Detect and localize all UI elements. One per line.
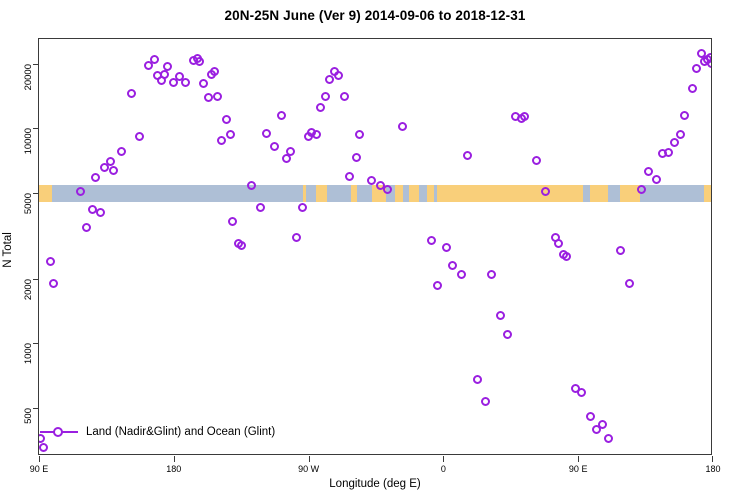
y-axis-label-text: N Total xyxy=(2,232,14,268)
data-point xyxy=(135,132,144,141)
x-axis-tick xyxy=(309,456,310,462)
data-point xyxy=(577,388,586,397)
data-point xyxy=(91,173,100,182)
data-point xyxy=(46,257,55,266)
data-point xyxy=(340,92,349,101)
data-point xyxy=(644,167,653,176)
data-point xyxy=(160,70,169,79)
data-point xyxy=(49,279,58,288)
x-axis-tick-label: 180 xyxy=(166,464,181,474)
data-point xyxy=(106,157,115,166)
data-point xyxy=(520,112,529,121)
data-point xyxy=(487,270,496,279)
data-point xyxy=(217,136,226,145)
land-band-segment xyxy=(409,185,419,202)
y-axis-label: N Total xyxy=(2,232,14,268)
data-point xyxy=(586,412,595,421)
land-band-segment xyxy=(427,185,434,202)
data-point xyxy=(277,111,286,120)
data-point xyxy=(228,217,237,226)
x-axis-tick-label: 90 E xyxy=(30,464,49,474)
plot-area xyxy=(39,39,711,454)
data-point xyxy=(82,223,91,232)
data-point xyxy=(39,443,48,452)
data-point xyxy=(448,261,457,270)
x-axis-tick-label: 180 xyxy=(705,464,720,474)
data-point xyxy=(270,142,279,151)
data-point xyxy=(199,79,208,88)
data-point xyxy=(222,115,231,124)
data-point xyxy=(652,175,661,184)
data-point xyxy=(442,243,451,252)
data-point xyxy=(676,130,685,139)
data-point xyxy=(195,57,204,66)
chart-title: 20N-25N June (Ver 9) 2014-09-06 to 2018-… xyxy=(0,8,750,23)
data-point xyxy=(262,129,271,138)
data-point xyxy=(345,172,354,181)
data-point xyxy=(664,148,673,157)
data-point xyxy=(463,151,472,160)
plot-frame: 5001000200050001000020000 90 E18090 W090… xyxy=(38,38,712,455)
data-point xyxy=(457,270,466,279)
data-point xyxy=(481,397,490,406)
data-point xyxy=(150,55,159,64)
data-point xyxy=(96,208,105,217)
data-point xyxy=(562,252,571,261)
land-band-segment xyxy=(395,185,402,202)
data-point xyxy=(707,59,711,68)
legend-label: Land (Nadir&Glint) and Ocean (Glint) xyxy=(86,426,275,438)
legend: Land (Nadir&Glint) and Ocean (Glint) xyxy=(40,426,275,438)
land-band-segment xyxy=(316,185,326,202)
data-point xyxy=(433,281,442,290)
x-axis-tick-label: 90 W xyxy=(298,464,319,474)
data-point xyxy=(109,166,118,175)
land-band-segment xyxy=(590,185,608,202)
chart-root: 20N-25N June (Ver 9) 2014-09-06 to 2018-… xyxy=(0,0,750,500)
data-point xyxy=(204,93,213,102)
data-point xyxy=(298,203,307,212)
data-point xyxy=(256,203,265,212)
data-point xyxy=(427,236,436,245)
data-point xyxy=(541,187,550,196)
data-point xyxy=(127,89,136,98)
data-point xyxy=(554,239,563,248)
data-point xyxy=(210,67,219,76)
legend-marker-icon xyxy=(40,426,78,438)
data-point xyxy=(316,103,325,112)
data-point xyxy=(181,78,190,87)
data-point xyxy=(532,156,541,165)
data-point xyxy=(286,147,295,156)
data-point xyxy=(163,62,172,71)
data-point xyxy=(503,330,512,339)
data-point xyxy=(625,279,634,288)
x-axis-tick xyxy=(39,456,40,462)
land-band-segment xyxy=(303,185,306,202)
x-axis-tick xyxy=(712,456,713,462)
data-point xyxy=(237,241,246,250)
x-axis-tick xyxy=(443,456,444,462)
land-band-segment xyxy=(351,185,357,202)
data-point xyxy=(398,122,407,131)
land-band-segment xyxy=(437,185,582,202)
data-point xyxy=(637,185,646,194)
data-point xyxy=(292,233,301,242)
data-point xyxy=(226,130,235,139)
data-point xyxy=(670,138,679,147)
data-point xyxy=(312,130,321,139)
data-point xyxy=(334,71,343,80)
data-point xyxy=(604,434,613,443)
data-point xyxy=(355,130,364,139)
data-point xyxy=(692,64,701,73)
data-point xyxy=(325,75,334,84)
x-axis-tick xyxy=(174,456,175,462)
x-axis-tick xyxy=(578,456,579,462)
x-axis-tick-label: 0 xyxy=(441,464,446,474)
land-band-segment xyxy=(704,185,711,202)
data-point xyxy=(321,92,330,101)
x-axis-tick-label: 90 E xyxy=(569,464,588,474)
land-band-segment xyxy=(39,185,52,202)
data-point xyxy=(616,246,625,255)
data-point xyxy=(496,311,505,320)
data-point xyxy=(473,375,482,384)
data-point xyxy=(117,147,126,156)
data-point xyxy=(598,420,607,429)
x-axis-label: Longitude (deg E) xyxy=(38,478,712,490)
data-point xyxy=(213,92,222,101)
data-point xyxy=(688,84,697,93)
data-point xyxy=(352,153,361,162)
data-point xyxy=(680,111,689,120)
